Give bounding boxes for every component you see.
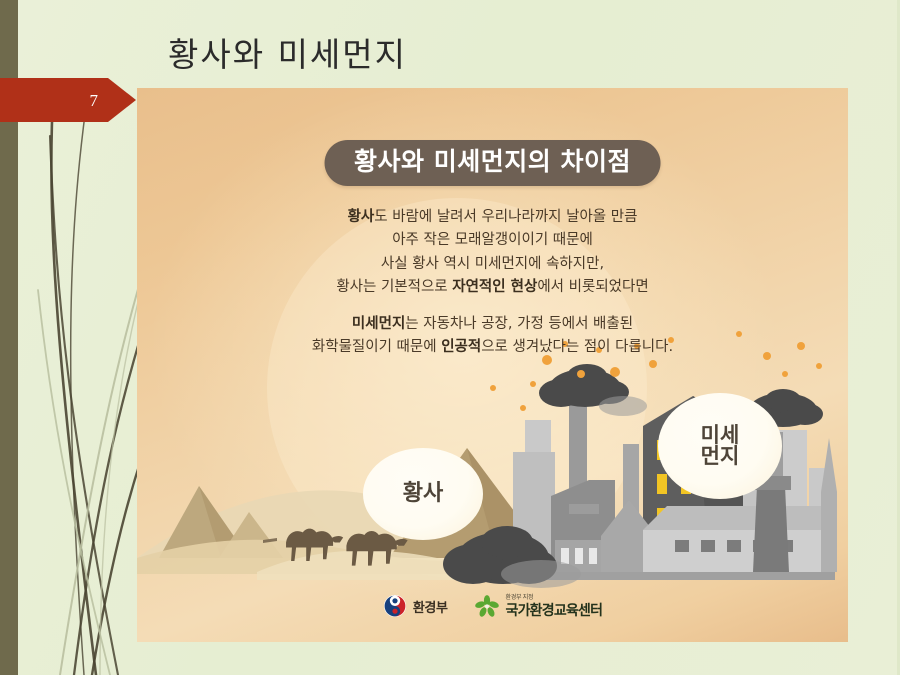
footer-logo-row: 환경부 환경부 지정 국가환경교육센터 bbox=[137, 592, 848, 620]
chimney-left bbox=[569, 384, 587, 572]
sand-ridge bbox=[137, 540, 517, 574]
body-line-4: 황사는 기본적으로 자연적인 현상에서 비롯되었다면 bbox=[137, 276, 848, 299]
slide-canvas: 7 황사와 미세먼지 bbox=[0, 0, 900, 675]
national-env-education-center-logo: 환경부 지정 국가환경교육센터 bbox=[474, 592, 603, 620]
clover-leaf-icon bbox=[474, 594, 500, 618]
page-title: 황사와 미세먼지 bbox=[168, 28, 407, 76]
dune-left-2 bbox=[219, 512, 283, 558]
body-line-4-pre: 황사는 기본적으로 bbox=[336, 279, 452, 295]
content-image-panel: 황사와 미세먼지의 차이점 황사도 바람에 날려서 우리나라까지 날아올 만큼 … bbox=[137, 88, 848, 642]
body-line-4-bold: 자연적인 현상 bbox=[452, 279, 537, 295]
body-line-4-post: 에서 비롯되었다면 bbox=[537, 279, 648, 295]
body-line-1: 황사도 바람에 날려서 우리나라까지 날아올 만큼 bbox=[137, 206, 848, 229]
label-bubble-misemeonji-line2: 먼지 bbox=[701, 444, 740, 468]
body-line-5: 미세먼지는 자동차나 공장, 가정 등에서 배출된 bbox=[137, 313, 848, 336]
label-bubble-hwangsa-text: 황사 bbox=[403, 483, 443, 505]
body-line-6-bold: 인공적 bbox=[441, 339, 481, 355]
body-line-6-post: 으로 생겨났다는 점이 다릅니다. bbox=[481, 339, 673, 355]
label-bubble-misemeonji-line1: 미세 bbox=[701, 423, 740, 447]
body-line-1-bold: 황사 bbox=[348, 209, 375, 225]
page-number-label: 7 bbox=[90, 92, 99, 109]
factory-front bbox=[643, 530, 823, 572]
camel-silhouettes bbox=[263, 529, 408, 566]
body-line-6-pre: 화학물질이기 때문에 bbox=[312, 339, 441, 355]
body-line-5-bold: 미세먼지 bbox=[352, 316, 405, 332]
section-banner: 황사와 미세먼지의 차이점 bbox=[324, 140, 661, 186]
ministry-logo-label: 환경부 bbox=[413, 597, 448, 616]
body-text-block: 황사도 바람에 날려서 우리나라까지 날아올 만큼 아주 작은 모래알갱이이기 … bbox=[137, 206, 848, 360]
body-line-5-rest: 는 자동차나 공장, 가정 등에서 배출된 bbox=[405, 316, 633, 332]
center-logo-sub-label: 환경부 지정 bbox=[506, 592, 603, 601]
paragraph-gap bbox=[137, 300, 848, 313]
center-logo-text-group: 환경부 지정 국가환경교육센터 bbox=[506, 592, 603, 620]
label-bubble-misemeonji: 미세 먼지 bbox=[658, 393, 782, 499]
page-number-badge: 7 bbox=[0, 78, 136, 122]
label-bubble-misemeonji-text: 미세 먼지 bbox=[701, 425, 740, 468]
center-logo-label: 국가환경교육센터 bbox=[506, 602, 603, 618]
body-line-6: 화학물질이기 때문에 인공적으로 생겨났다는 점이 다릅니다. bbox=[137, 336, 848, 359]
label-bubble-hwangsa: 황사 bbox=[363, 448, 483, 540]
banner-title: 황사와 미세먼지의 차이점 bbox=[354, 148, 631, 176]
dune-left-1 bbox=[159, 486, 249, 558]
body-line-3: 사실 황사 역시 미세먼지에 속하지만, bbox=[137, 253, 848, 276]
ministry-of-environment-logo: 환경부 bbox=[383, 594, 448, 618]
body-line-2: 아주 작은 모래알갱이이기 때문에 bbox=[137, 229, 848, 252]
body-line-1-rest: 도 바람에 날려서 우리나라까지 날아올 만큼 bbox=[374, 209, 637, 225]
taegeuk-icon bbox=[383, 594, 407, 618]
